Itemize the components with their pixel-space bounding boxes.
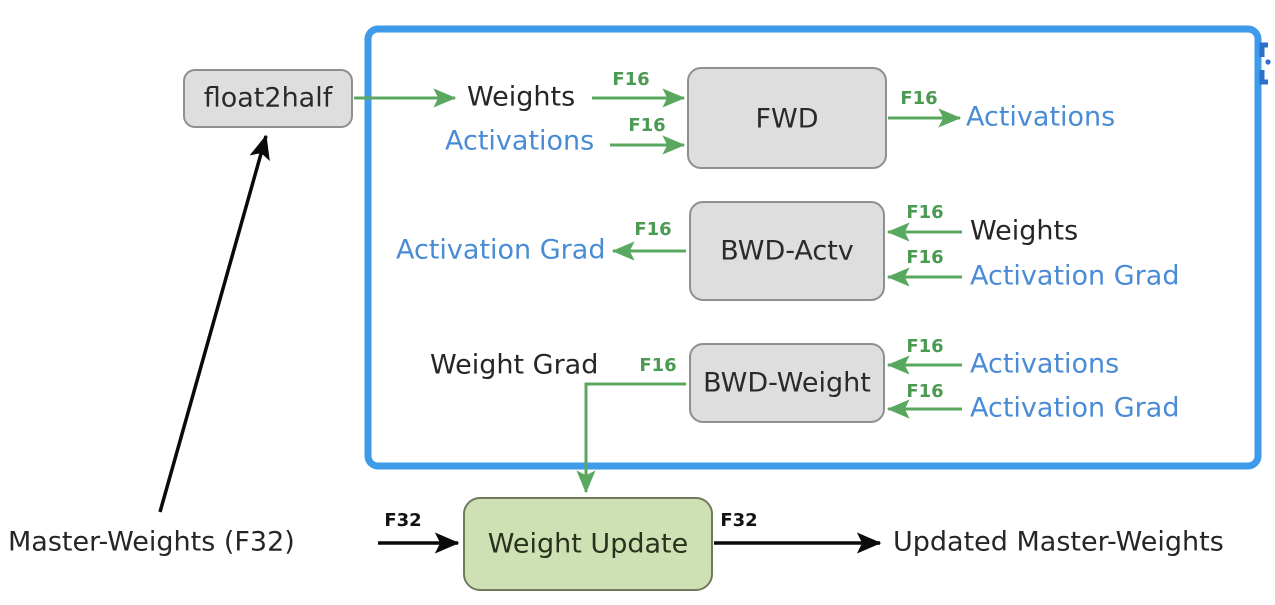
label-bwd-actv-input-weights: Weights — [970, 216, 1078, 247]
label-fwd-output-activations: Activations — [966, 102, 1115, 133]
edge-label-bwd-actv-weights: F16 — [906, 202, 943, 223]
edge-label-bwd-weight-output: F16 — [639, 355, 676, 376]
node-weight-update-label: Weight Update — [488, 529, 688, 560]
label-bwd-actv-output-grad: Activation Grad — [396, 235, 605, 266]
label-fwd-input-activations: Activations — [445, 126, 594, 157]
edge-label-bwd-actv-output: F16 — [634, 219, 671, 240]
edge-label-weight-update-input: F32 — [384, 510, 421, 531]
label-bwd-actv-input-grad: Activation Grad — [970, 261, 1179, 292]
label-master-weights: Master-Weights (F32) — [8, 527, 295, 558]
label-bwd-weight-input-grad: Activation Grad — [970, 393, 1179, 424]
edge-label-bwd-actv-grad: F16 — [906, 247, 943, 268]
diagram-svg: float2half Weights Activations F16 F16 F… — [0, 0, 1275, 605]
edge-label-bwd-weight-grad: F16 — [906, 381, 943, 402]
edge-label-fwd-output: F16 — [900, 88, 937, 109]
node-fwd-label: FWD — [755, 104, 818, 135]
node-bwd-actv-label: BWD-Actv — [720, 236, 854, 267]
node-float2half-label: float2half — [204, 83, 334, 114]
edge-label-fwd-weights: F16 — [612, 69, 649, 90]
label-bwd-weight-output-grad: Weight Grad — [430, 350, 598, 381]
label-updated-master-weights: Updated Master-Weights — [893, 527, 1224, 558]
edge-label-weight-update-output: F32 — [720, 510, 757, 531]
label-fwd-input-weights: Weights — [467, 82, 575, 113]
corner-bracket-icon — [1262, 45, 1271, 82]
label-bwd-weight-input-activations: Activations — [970, 349, 1119, 380]
edge-weight-grad-to-weight-update — [586, 384, 686, 492]
diagram-canvas: float2half Weights Activations F16 F16 F… — [0, 0, 1275, 605]
edge-label-fwd-activations: F16 — [628, 115, 665, 136]
edge-label-bwd-weight-activations: F16 — [906, 336, 943, 357]
node-bwd-weight-label: BWD-Weight — [703, 368, 871, 399]
edge-master-weights-to-float2half — [160, 136, 266, 512]
